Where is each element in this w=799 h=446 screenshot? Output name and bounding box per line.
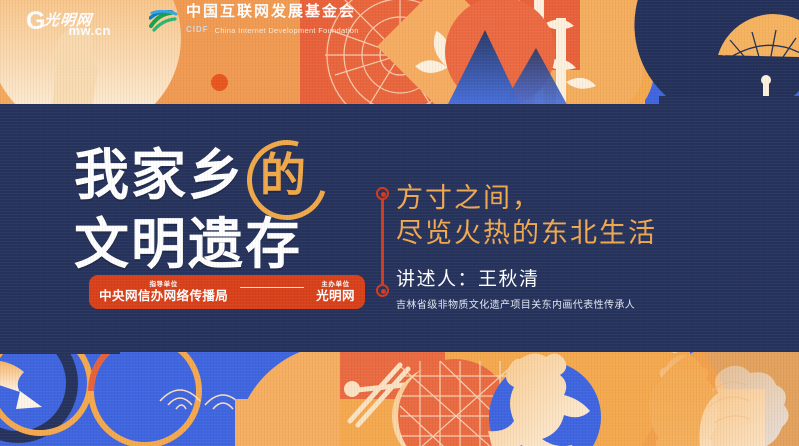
credit-divider [240,287,304,288]
title-de-char: 的 [260,152,308,199]
speaker-name: 讲述人：王秋清 [396,264,657,291]
gmw-logo-icon[interactable]: G 光明网 mw.cn [26,9,135,34]
headline-block: 方寸之间， 尽览火热的东北生活 讲述人：王秋清 吉林省级非物质文化遗产项目关东内… [396,182,657,311]
cidf-abbr: CIDF [186,25,209,34]
poster-root: G 光明网 mw.cn 中国互联网发展基金会 CIDF China Int [0,0,799,446]
cidf-mark-icon [149,10,179,32]
credit-host: 主办单位 光明网 [316,281,355,303]
accent-line [381,190,384,294]
credit-banner: 指导单位 中央网信办网络传播局 主办单位 光明网 [89,275,365,309]
accent-node-top-icon [376,187,389,200]
cidf-logo[interactable]: 中国互联网发展基金会 CIDF China Internet Developme… [149,4,359,39]
credit-guide: 指导单位 中央网信办网络传播局 [99,281,228,303]
headline-line-2: 尽览火热的东北生活 [396,217,657,252]
title-line-1-text: 我家乡 [74,147,245,203]
title-line-2-text: 文明遗存 [74,216,302,272]
cidf-name-cn: 中国互联网发展基金会 [186,4,359,20]
main-title: 我家乡 的 文明遗存 [74,138,321,272]
accent-node-bottom-icon [376,284,389,297]
gmw-logo-g: G [26,9,44,34]
title-line-1: 我家乡 的 [74,138,321,212]
headline-line-1: 方寸之间， [396,182,657,217]
cidf-name-en: China Internet Development Foundation [215,26,359,35]
credit-guide-value: 中央网信办网络传播局 [99,289,228,303]
credit-host-value: 光明网 [316,289,355,303]
title-line-2: 文明遗存 [74,216,321,272]
title-de-badge: 的 [247,138,321,212]
speaker-title: 吉林省级非物质文化遗产项目关东内画代表性传承人 [396,296,657,311]
gmw-logo-domain: mw.cn [68,24,110,37]
title-accent-dot-icon [211,74,228,91]
header-logo-bar: G 光明网 mw.cn 中国互联网发展基金会 CIDF China Int [0,0,799,42]
